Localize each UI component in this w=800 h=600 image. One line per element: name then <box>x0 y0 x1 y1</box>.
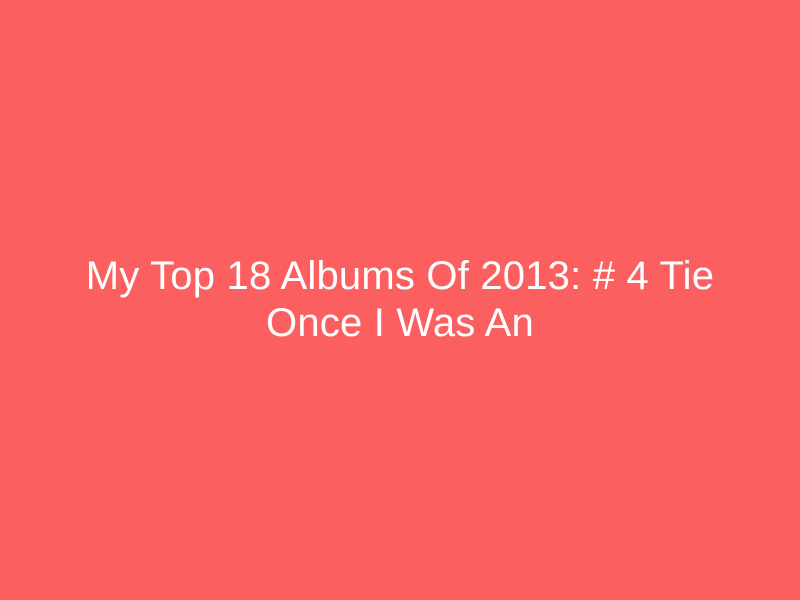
hero-title-card: My Top 18 Albums Of 2013: # 4 Tie Once I… <box>0 0 800 600</box>
page-title: My Top 18 Albums Of 2013: # 4 Tie Once I… <box>50 253 750 347</box>
hero-content: My Top 18 Albums Of 2013: # 4 Tie Once I… <box>50 253 750 347</box>
